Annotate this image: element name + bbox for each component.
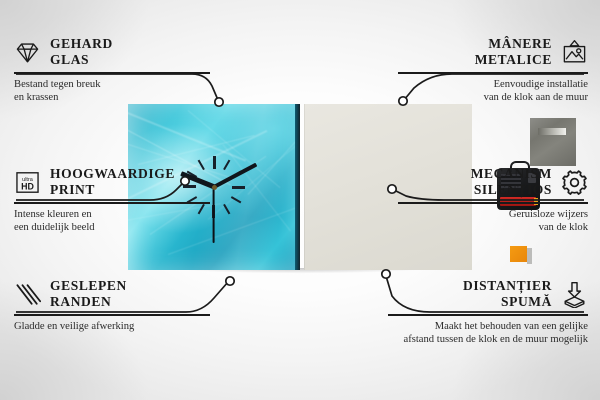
feature-divider (14, 72, 210, 74)
feature-title-line: SPUMĂ (463, 294, 552, 310)
feature-header: MÂNERE METALICE (398, 36, 588, 69)
feature-title-line: RANDEN (50, 294, 127, 310)
feature-title-line: PRINT (50, 182, 175, 198)
gear-icon (561, 169, 588, 196)
feature-metal-hooks[interactable]: MÂNERE METALICE Eenvoudige installatie v… (398, 36, 588, 105)
feature-title-line: METALICE (475, 52, 552, 68)
feature-title: DISTANȚIER SPUMĂ (463, 278, 552, 311)
feature-title-line: MÂNERE (475, 36, 552, 52)
feature-foam-spacer[interactable]: DISTANȚIER SPUMĂ Maakt het behouden van … (388, 278, 588, 347)
feature-title-line: GESLEPEN (50, 278, 127, 294)
feature-header: DISTANȚIER SPUMĂ (388, 278, 588, 311)
feature-description: Maakt het behouden van een gelijke afsta… (388, 320, 588, 348)
feature-title: GESLEPEN RANDEN (50, 278, 127, 311)
feature-desc-line: van de klok aan de muur (398, 91, 588, 105)
feature-polished-edges[interactable]: GESLEPEN RANDEN Gladde en veilige afwerk… (14, 278, 210, 333)
feature-title: MÂNERE METALICE (475, 36, 552, 69)
arrow-onto-stack-icon (561, 281, 588, 308)
connector-endpoint-polished-edges (226, 277, 234, 285)
feature-header: GESLEPEN RANDEN (14, 278, 210, 311)
feature-desc-line: Gladde en veilige afwerking (14, 320, 210, 334)
feature-description: Eenvoudige installatie van de klok aan d… (398, 78, 588, 106)
feature-desc-line: en krassen (14, 91, 210, 105)
infographic-canvas: GEHARD GLAS Bestand tegen breuk en krass… (0, 0, 600, 400)
feature-description: Geruisloze wijzers van de klok (398, 208, 588, 236)
feature-title-line: HOOGWAARDIGE (50, 166, 175, 182)
feature-header: ultra HD HOOGWAARDIGE PRINT (14, 166, 210, 199)
feature-title: MECANISM SILENȚIOS (471, 166, 552, 199)
diagonal-lines-icon (14, 281, 41, 308)
ultra-hd-icon: ultra HD (14, 169, 41, 196)
feature-desc-line: afstand tussen de klok en de muur mogeli… (388, 333, 588, 347)
feature-desc-line: Geruisloze wijzers (398, 208, 588, 222)
feature-title-line: SILENȚIOS (471, 182, 552, 198)
feature-hd-print[interactable]: ultra HD HOOGWAARDIGE PRINT Intense kleu… (14, 166, 210, 235)
connector-endpoint-tempered-glass (215, 98, 223, 106)
feature-title-line: GEHARD (50, 36, 113, 52)
feature-divider (388, 314, 588, 316)
feature-header: GEHARD GLAS (14, 36, 210, 69)
feature-divider (14, 202, 210, 204)
feature-divider (14, 314, 210, 316)
feature-silent-mechanism[interactable]: MECANISM SILENȚIOS Geruisloze wijzers va… (398, 166, 588, 235)
feature-title: GEHARD GLAS (50, 36, 113, 69)
feature-desc-line: Bestand tegen breuk (14, 78, 210, 92)
feature-title-line: GLAS (50, 52, 113, 68)
feature-title: HOOGWAARDIGE PRINT (50, 166, 175, 199)
feature-title-line: MECANISM (471, 166, 552, 182)
feature-description: Bestand tegen breuk en krassen (14, 78, 210, 106)
feature-tempered-glass[interactable]: GEHARD GLAS Bestand tegen breuk en krass… (14, 36, 210, 105)
feature-desc-line: Maakt het behouden van een gelijke (388, 320, 588, 334)
hanging-picture-icon (561, 39, 588, 66)
feature-title-line: DISTANȚIER (463, 278, 552, 294)
diamond-icon (14, 39, 41, 66)
connector-endpoint-silent-mechanism (388, 185, 396, 193)
feature-divider (398, 202, 588, 204)
svg-text:HD: HD (21, 181, 34, 191)
feature-desc-line: Intense kleuren en (14, 208, 210, 222)
feature-desc-line: een duidelijk beeld (14, 221, 210, 235)
feature-header: MECANISM SILENȚIOS (398, 166, 588, 199)
feature-description: Gladde en veilige afwerking (14, 320, 210, 334)
feature-description: Intense kleuren en een duidelijk beeld (14, 208, 210, 236)
feature-desc-line: van de klok (398, 221, 588, 235)
connector-endpoint-foam-spacer (382, 270, 390, 278)
feature-desc-line: Eenvoudige installatie (398, 78, 588, 92)
feature-divider (398, 72, 588, 74)
